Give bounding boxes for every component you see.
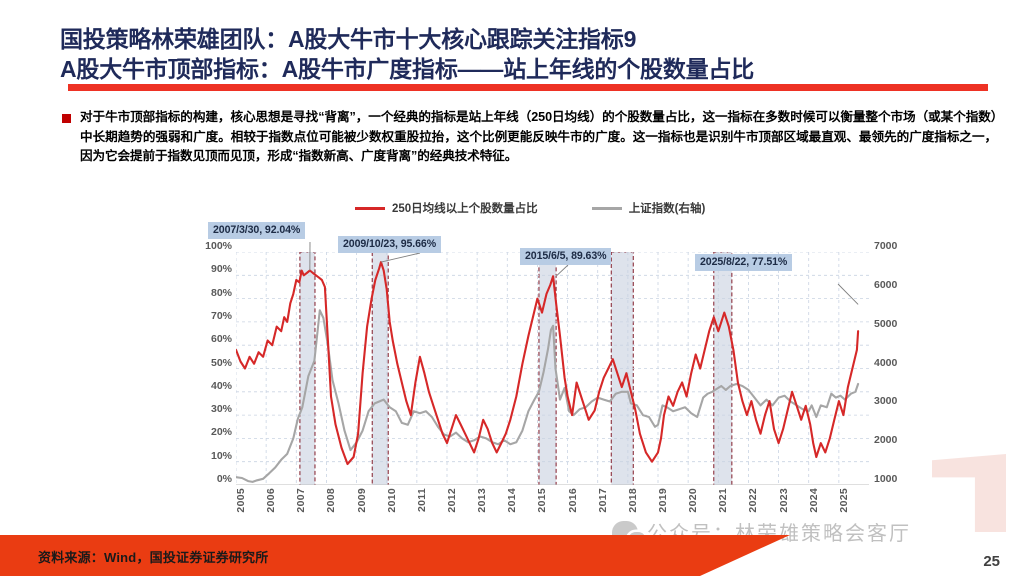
page-number: 25 <box>983 553 1000 570</box>
body-text: 对于牛市顶部指标的构建，核心思想是寻找“背离”，一个经典的指标是站上年线（250… <box>80 108 997 167</box>
x-tick: 2016 <box>567 488 579 513</box>
chart-svg <box>236 252 869 485</box>
x-tick: 2024 <box>808 488 820 513</box>
y-tick-left: 30% <box>211 403 232 415</box>
y-axis-left: 100%90%80%70%60%50%40%30%20%10%0% <box>190 246 232 491</box>
x-tick: 2009 <box>356 488 368 513</box>
x-tick: 2022 <box>747 488 759 513</box>
chart-annotation: 2009/10/23, 95.66% <box>338 236 441 253</box>
legend-label-ratio: 250日均线以上个股数量占比 <box>392 200 538 216</box>
y-tick-right: 6000 <box>874 279 897 291</box>
chart-legend: 250日均线以上个股数量占比 上证指数(右轴) <box>355 200 705 216</box>
y-tick-right: 4000 <box>874 357 897 369</box>
page-title: 国投策略林荣雄团队：A股大牛市十大核心跟踪关注指标9 A股大牛市顶部指标：A股牛… <box>60 24 1010 84</box>
x-tick: 2023 <box>778 488 790 513</box>
chart-annotation: 2025/8/22, 77.51% <box>695 254 792 271</box>
y-tick-left: 70% <box>211 310 232 322</box>
x-tick: 2005 <box>235 488 247 513</box>
y-tick-left: 10% <box>211 450 232 462</box>
x-tick: 2020 <box>687 488 699 513</box>
x-tick: 2017 <box>597 488 609 513</box>
plot-area <box>236 252 869 485</box>
y-tick-left: 90% <box>211 263 232 275</box>
y-tick-left: 20% <box>211 426 232 438</box>
x-axis: 2005200620072008200920102011201220132014… <box>236 488 869 536</box>
chart-annotation: 2015/6/5, 89.63% <box>520 248 611 265</box>
y-tick-right: 5000 <box>874 318 897 330</box>
chart-container: 250日均线以上个股数量占比 上证指数(右轴) 100%90%80%70%60%… <box>190 196 930 536</box>
y-axis-right: 7000600050004000300020001000 <box>874 246 922 491</box>
square-bullet-icon <box>62 114 71 123</box>
source-text: 资料来源：Wind，国投证券证券研究所 <box>38 547 268 566</box>
y-tick-left: 0% <box>217 473 232 485</box>
decorative-shape <box>932 454 1006 532</box>
x-tick: 2021 <box>717 488 729 513</box>
legend-swatch-index <box>592 207 622 210</box>
y-tick-left: 60% <box>211 333 232 345</box>
title-underline <box>68 84 988 91</box>
x-tick: 2007 <box>295 488 307 513</box>
y-tick-left: 100% <box>205 240 232 252</box>
legend-item-ratio: 250日均线以上个股数量占比 <box>355 200 538 216</box>
y-tick-right: 7000 <box>874 240 897 252</box>
x-tick: 2025 <box>838 488 850 513</box>
x-tick: 2014 <box>506 488 518 513</box>
y-tick-right: 2000 <box>874 434 897 446</box>
x-tick: 2013 <box>476 488 488 513</box>
x-tick: 2010 <box>386 488 398 513</box>
x-tick: 2012 <box>446 488 458 513</box>
title-line-1: 国投策略林荣雄团队：A股大牛市十大核心跟踪关注指标9 <box>60 24 1010 54</box>
y-tick-left: 40% <box>211 380 232 392</box>
body-bullet: 对于牛市顶部指标的构建，核心思想是寻找“背离”，一个经典的指标是站上年线（250… <box>62 108 997 167</box>
y-tick-right: 1000 <box>874 473 897 485</box>
x-tick: 2019 <box>657 488 669 513</box>
legend-item-index: 上证指数(右轴) <box>592 200 706 216</box>
slide-root: 国投策略林荣雄团队：A股大牛市十大核心跟踪关注指标9 A股大牛市顶部指标：A股牛… <box>0 0 1024 576</box>
x-tick: 2008 <box>325 488 337 513</box>
y-tick-left: 80% <box>211 287 232 299</box>
y-tick-right: 3000 <box>874 395 897 407</box>
x-tick: 2011 <box>416 488 428 512</box>
chart-annotation: 2007/3/30, 92.04% <box>208 222 305 239</box>
legend-label-index: 上证指数(右轴) <box>629 200 706 216</box>
x-tick: 2006 <box>265 488 277 513</box>
title-line-2: A股大牛市顶部指标：A股牛市广度指标——站上年线的个股数量占比 <box>60 54 1010 84</box>
x-tick: 2018 <box>627 488 639 513</box>
legend-swatch-ratio <box>355 207 385 210</box>
x-tick: 2015 <box>536 488 548 513</box>
y-tick-left: 50% <box>211 357 232 369</box>
